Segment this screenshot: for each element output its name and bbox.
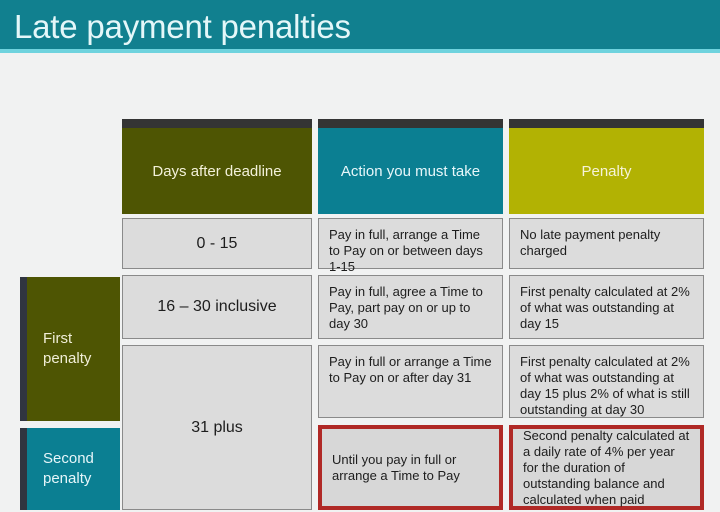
table-header-days: Days after deadline (122, 119, 312, 214)
side-label-first-penalty-line2: penalty (43, 349, 91, 369)
side-label-second-penalty-line2: penalty (43, 469, 94, 489)
table-row: First penalty calculated at 2% of what w… (509, 275, 704, 339)
cell-penalty-2: First penalty calculated at 2% of what w… (520, 354, 693, 418)
table-row: 0 - 15 (122, 218, 312, 269)
page-title: Late payment penalties (14, 5, 351, 49)
side-label-first-penalty: First penalty (20, 277, 120, 421)
side-label-first-penalty-line1: First (43, 329, 91, 349)
cell-days-0: 0 - 15 (197, 236, 238, 252)
table-row: Pay in full, agree a Time to Pay, part p… (318, 275, 503, 339)
cell-penalty-1: First penalty calculated at 2% of what w… (520, 284, 693, 332)
table-row: No late payment penalty charged (509, 218, 704, 269)
cell-penalty-0: No late payment penalty charged (520, 227, 693, 259)
cell-days-2: 31 plus (191, 420, 243, 436)
cell-action-0: Pay in full, arrange a Time to Pay on or… (329, 227, 492, 275)
table-row: Pay in full or arrange a Time to Pay on … (318, 345, 503, 418)
side-label-second-penalty: Second penalty (20, 428, 120, 510)
table-row-highlighted: Until you pay in full or arrange a Time … (318, 425, 503, 510)
table-header-action: Action you must take (318, 119, 503, 214)
table-row: 16 – 30 inclusive (122, 275, 312, 339)
table-header-days-label: Days after deadline (152, 163, 281, 180)
cell-penalty-3: Second penalty calculated at a daily rat… (523, 428, 690, 508)
cell-action-2: Pay in full or arrange a Time to Pay on … (329, 354, 492, 386)
table-header-penalty: Penalty (509, 119, 704, 214)
table-row: Pay in full, arrange a Time to Pay on or… (318, 218, 503, 269)
table-row: 31 plus (122, 345, 312, 510)
cell-action-1: Pay in full, agree a Time to Pay, part p… (329, 284, 492, 332)
table-row-highlighted: Second penalty calculated at a daily rat… (509, 425, 704, 510)
cell-days-1: 16 – 30 inclusive (157, 299, 276, 315)
table-header-action-label: Action you must take (341, 163, 480, 180)
cell-action-3: Until you pay in full or arrange a Time … (332, 452, 489, 484)
table-row: First penalty calculated at 2% of what w… (509, 345, 704, 418)
side-label-second-penalty-line1: Second (43, 449, 94, 469)
slide-title-bar: Late payment penalties (0, 0, 720, 53)
table-header-penalty-label: Penalty (581, 163, 631, 180)
